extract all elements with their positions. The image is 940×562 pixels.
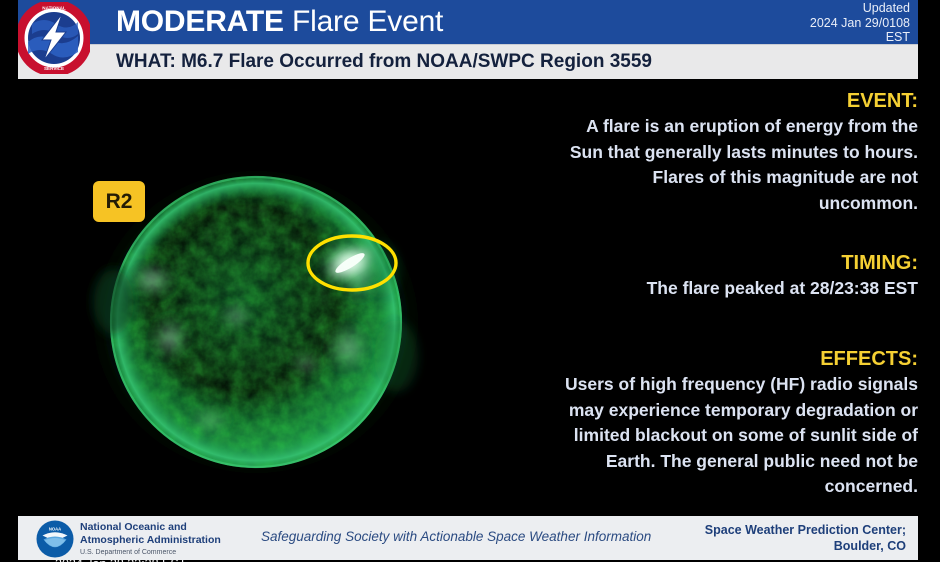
updated-label: Updated	[810, 1, 910, 16]
updated-timezone: EST	[810, 30, 910, 45]
effects-section: EFFECTS: Users of high frequency (HF) ra…	[552, 346, 918, 500]
swpc-line-2: Boulder, CO	[705, 538, 906, 554]
svg-text:NOAA: NOAA	[49, 526, 61, 531]
noaa-line-2: Atmospheric Administration	[80, 534, 221, 547]
suvi-solar-disk-image	[60, 120, 480, 505]
svg-text:NATIONAL: NATIONAL	[42, 6, 66, 11]
effects-heading: EFFECTS:	[552, 346, 918, 372]
header: MODERATE Flare Event Updated 2024 Jan 29…	[18, 0, 918, 80]
footer-bar: NOAA National Oceanic and Atmospheric Ad…	[18, 516, 918, 560]
subtitle-bar: WHAT: M6.7 Flare Occurred from NOAA/SWPC…	[18, 44, 918, 79]
noaa-logo-icon: NOAA	[36, 520, 74, 558]
solar-image-panel: R2 GOES-18 SUVI Composite 094 Angstroms …	[0, 80, 530, 500]
noaa-department: U.S. Department of Commerce	[80, 546, 221, 558]
timing-body: The flare peaked at 28/23:38 EST	[552, 276, 918, 302]
svg-text:SERVICE: SERVICE	[44, 66, 64, 71]
footer-tagline: Safeguarding Society with Actionable Spa…	[261, 529, 651, 544]
updated-block: Updated 2024 Jan 29/0108 EST	[810, 1, 910, 45]
national-weather-service-seal-icon: NATIONAL SERVICE	[18, 2, 90, 74]
event-section: EVENT: A flare is an eruption of energy …	[552, 88, 918, 216]
event-body: A flare is an eruption of energy from th…	[552, 114, 918, 216]
flare-event-graphic: MODERATE Flare Event Updated 2024 Jan 29…	[0, 0, 940, 562]
radio-blackout-scale-badge: R2	[93, 181, 145, 222]
severity-word: MODERATE	[116, 5, 284, 38]
swpc-attribution: Space Weather Prediction Center; Boulder…	[705, 522, 906, 554]
noaa-line-1: National Oceanic and	[80, 521, 221, 534]
swpc-line-1: Space Weather Prediction Center;	[705, 522, 906, 538]
title-rest: Flare Event	[292, 5, 443, 38]
effects-body: Users of high frequency (HF) radio signa…	[552, 372, 918, 500]
subtitle-text: WHAT: M6.7 Flare Occurred from NOAA/SWPC…	[116, 49, 652, 75]
event-heading: EVENT:	[552, 88, 918, 114]
noaa-agency-name: National Oceanic and Atmospheric Adminis…	[80, 521, 221, 558]
timing-section: TIMING: The flare peaked at 28/23:38 EST	[552, 250, 918, 302]
page-title: MODERATE Flare Event	[116, 2, 443, 42]
timing-heading: TIMING:	[552, 250, 918, 276]
title-bar: MODERATE Flare Event Updated 2024 Jan 29…	[18, 0, 918, 44]
updated-timestamp: 2024 Jan 29/0108	[810, 16, 910, 31]
